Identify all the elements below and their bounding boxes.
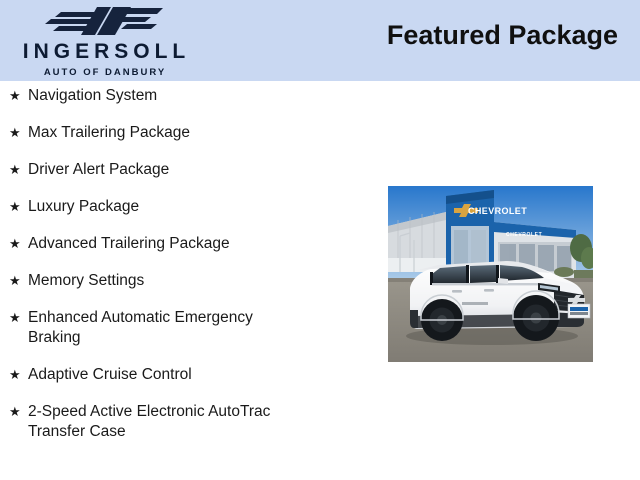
star-icon: ★: [9, 365, 21, 385]
ingersoll-winged-emblem: [39, 3, 169, 39]
list-item-label: Navigation System: [28, 86, 352, 106]
vehicle-photo: CHEVROLET CHEVROLET: [388, 186, 593, 362]
list-item-label: Memory Settings: [28, 271, 352, 291]
svg-text:CHEVROLET: CHEVROLET: [506, 232, 542, 238]
star-icon: ★: [9, 123, 21, 143]
feature-list: ★ Navigation System ★ Max Trailering Pac…: [0, 86, 360, 459]
list-item-label: Adaptive Cruise Control: [28, 365, 352, 385]
header-band: INGERSOLL AUTO OF DANBURY Featured Packa…: [0, 0, 640, 81]
list-item: ★ Luxury Package: [0, 197, 360, 217]
star-icon: ★: [9, 308, 21, 328]
brand-name: INGERSOLL: [18, 41, 191, 62]
list-item-label: Driver Alert Package: [28, 160, 352, 180]
star-icon: ★: [9, 86, 21, 106]
list-item: ★ Advanced Trailering Package: [0, 234, 360, 254]
list-item: ★ 2-Speed Active Electronic AutoTrac Tra…: [0, 402, 360, 442]
list-item: ★ Memory Settings: [0, 271, 360, 291]
list-item: ★ Navigation System: [0, 86, 360, 106]
featured-package-slide: INGERSOLL AUTO OF DANBURY Featured Packa…: [0, 0, 640, 480]
list-item-label: 2-Speed Active Electronic AutoTrac Trans…: [28, 402, 352, 442]
star-icon: ★: [9, 271, 21, 291]
list-item: ★ Enhanced Automatic Emergency Braking: [0, 308, 360, 348]
list-item-label: Advanced Trailering Package: [28, 234, 352, 254]
page-title: Featured Package: [387, 20, 618, 51]
svg-text:CHEVROLET: CHEVROLET: [468, 206, 527, 216]
list-item: ★ Max Trailering Package: [0, 123, 360, 143]
list-item: ★ Driver Alert Package: [0, 160, 360, 180]
list-item-label: Enhanced Automatic Emergency Braking: [28, 308, 352, 348]
list-item: ★ Adaptive Cruise Control: [0, 365, 360, 385]
dealer-logo: INGERSOLL AUTO OF DANBURY: [8, 3, 200, 79]
star-icon: ★: [9, 160, 21, 180]
list-item-label: Max Trailering Package: [28, 123, 352, 143]
star-icon: ★: [9, 197, 21, 217]
list-item-label: Luxury Package: [28, 197, 352, 217]
star-icon: ★: [9, 234, 21, 254]
brand-subtitle: AUTO OF DANBURY: [42, 68, 166, 78]
star-icon: ★: [9, 402, 21, 422]
